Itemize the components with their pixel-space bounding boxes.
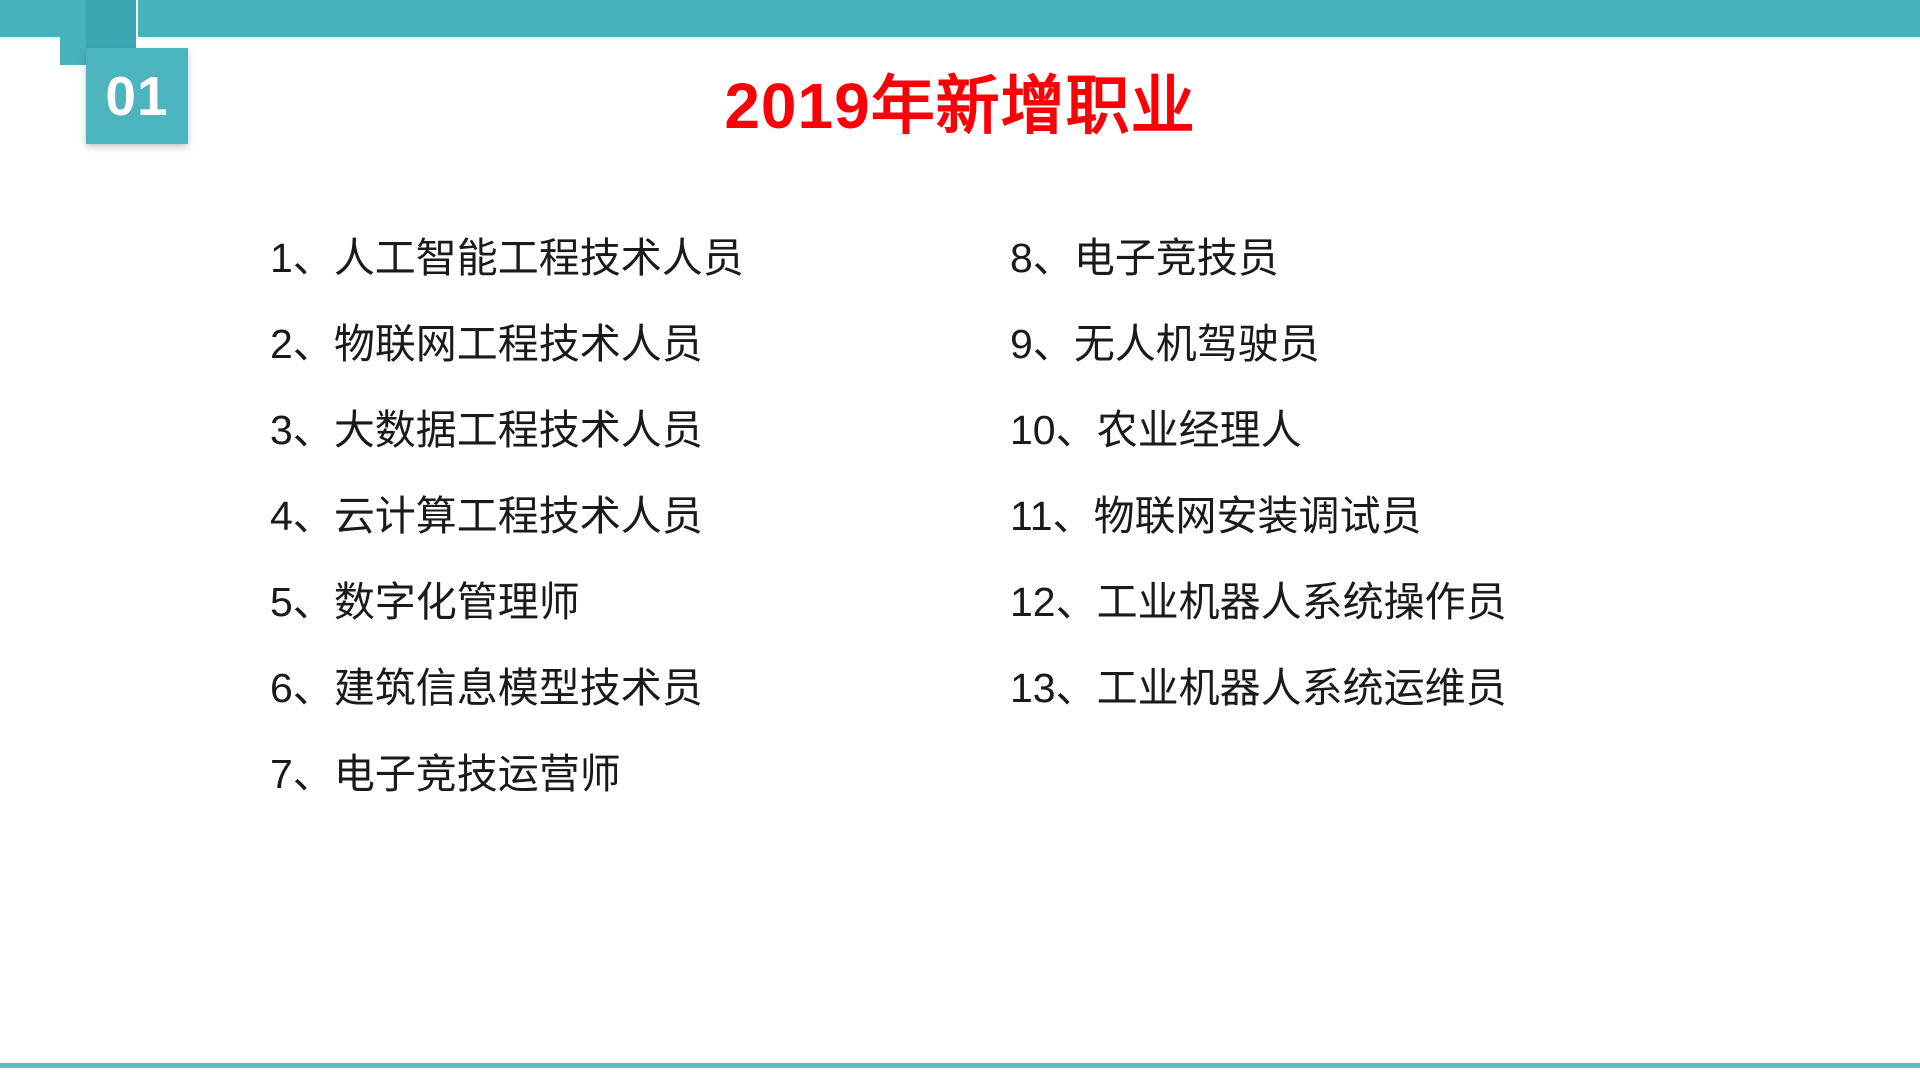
- list-item: 3、 大数据工程技术人员: [270, 387, 1010, 473]
- list-item: 12、 工业机器人系统操作员: [1010, 559, 1690, 645]
- page-title: 2019年新增职业: [0, 55, 1920, 147]
- list-item-label: 数字化管理师: [334, 582, 580, 623]
- list-item-number: 12、: [1010, 582, 1097, 623]
- list-item-number: 7、: [270, 754, 334, 795]
- list-item: 1、 人工智能工程技术人员: [270, 215, 1010, 301]
- occupation-list-column-left: 1、 人工智能工程技术人员 2、 物联网工程技术人员 3、 大数据工程技术人员 …: [270, 215, 1010, 817]
- list-item-number: 8、: [1010, 238, 1074, 279]
- list-item-number: 10、: [1010, 410, 1097, 451]
- list-item-label: 建筑信息模型技术员: [334, 668, 703, 709]
- list-item-label: 人工智能工程技术人员: [334, 238, 744, 279]
- list-item-label: 农业经理人: [1097, 410, 1302, 451]
- list-item: 8、 电子竞技员: [1010, 215, 1690, 301]
- list-item-number: 6、: [270, 668, 334, 709]
- list-item: 10、 农业经理人: [1010, 387, 1690, 473]
- list-item: 11、 物联网安装调试员: [1010, 473, 1690, 559]
- list-item-label: 工业机器人系统运维员: [1097, 668, 1507, 709]
- list-item-number: 2、: [270, 324, 334, 365]
- list-item-number: 13、: [1010, 668, 1097, 709]
- list-item: 5、 数字化管理师: [270, 559, 1010, 645]
- top-accent-bar: [0, 0, 1920, 37]
- list-item-number: 9、: [1010, 324, 1074, 365]
- list-item-number: 5、: [270, 582, 334, 623]
- occupation-list-column-right: 8、 电子竞技员 9、 无人机驾驶员 10、 农业经理人 11、 物联网安装调试…: [1010, 215, 1690, 817]
- occupation-list: 1、 人工智能工程技术人员 2、 物联网工程技术人员 3、 大数据工程技术人员 …: [270, 215, 1690, 817]
- list-item: 4、 云计算工程技术人员: [270, 473, 1010, 559]
- top-accent-riser: [86, 0, 136, 50]
- list-item-number: 11、: [1010, 496, 1094, 537]
- list-item: 2、 物联网工程技术人员: [270, 301, 1010, 387]
- slide-canvas: 01 2019年新增职业 1、 人工智能工程技术人员 2、 物联网工程技术人员 …: [0, 0, 1920, 1080]
- list-item: 7、 电子竞技运营师: [270, 731, 1010, 817]
- list-item: 13、 工业机器人系统运维员: [1010, 645, 1690, 731]
- list-item: 6、 建筑信息模型技术员: [270, 645, 1010, 731]
- list-item-label: 物联网工程技术人员: [334, 324, 703, 365]
- list-item: 9、 无人机驾驶员: [1010, 301, 1690, 387]
- list-item-label: 物联网安装调试员: [1094, 496, 1422, 537]
- list-item-number: 3、: [270, 410, 334, 451]
- list-item-number: 4、: [270, 496, 334, 537]
- bottom-accent-line: [0, 1063, 1920, 1068]
- list-item-label: 电子竞技运营师: [334, 754, 621, 795]
- top-accent-notch: [136, 0, 138, 37]
- list-item-label: 无人机驾驶员: [1074, 324, 1320, 365]
- list-item-label: 工业机器人系统操作员: [1097, 582, 1507, 623]
- list-item-number: 1、: [270, 238, 334, 279]
- list-item-label: 云计算工程技术人员: [334, 496, 703, 537]
- list-item-label: 大数据工程技术人员: [334, 410, 703, 451]
- list-item-label: 电子竞技员: [1074, 238, 1279, 279]
